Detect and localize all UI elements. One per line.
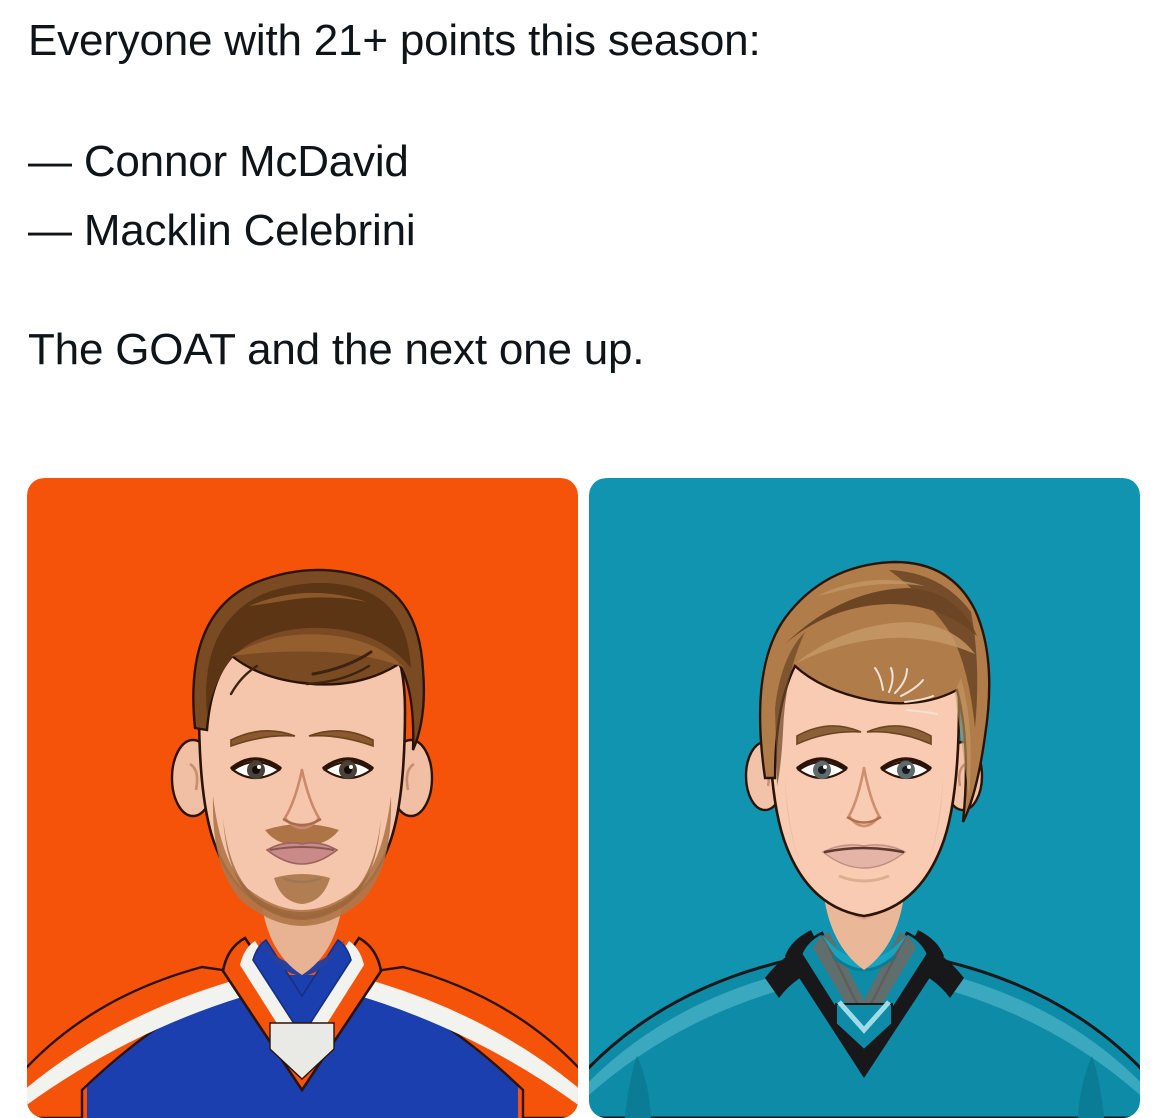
media-image-left[interactable] [27, 478, 578, 1118]
mcdavid-portrait-illustration [27, 478, 578, 1118]
tweet-post: Everyone with 21+ points this season: — … [0, 0, 1170, 1101]
list-item: — Macklin Celebrini [28, 198, 1142, 265]
media-image-right[interactable] [589, 478, 1140, 1118]
list-item: — Connor McDavid [28, 129, 1142, 196]
post-text-block: Everyone with 21+ points this season: — … [0, 0, 1170, 384]
post-heading: Everyone with 21+ points this season: [28, 8, 1142, 75]
celebrini-portrait-illustration [589, 478, 1140, 1118]
media-grid [27, 478, 1145, 1118]
post-closing: The GOAT and the next one up. [28, 317, 1142, 384]
spacer-1 [28, 75, 1142, 127]
spacer-2 [28, 265, 1142, 317]
